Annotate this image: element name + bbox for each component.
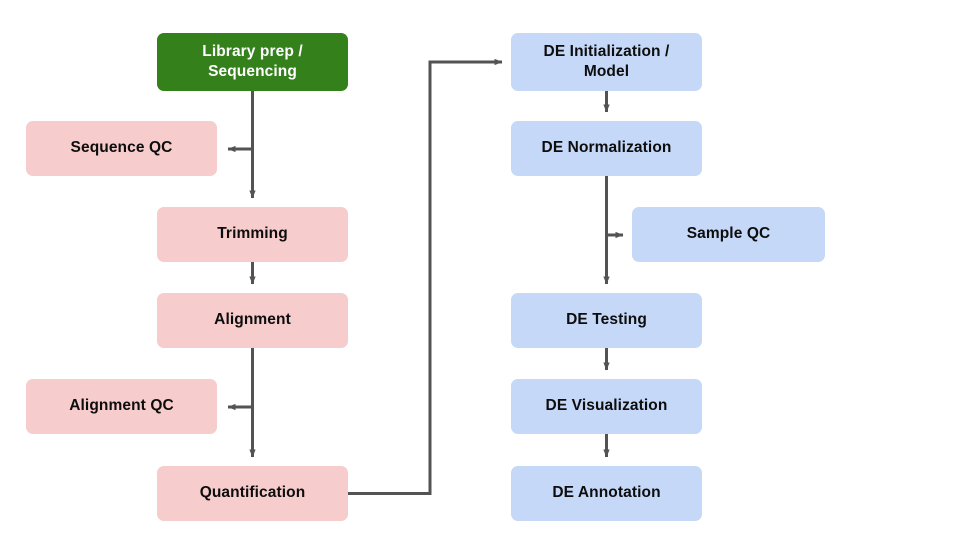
edge-layer xyxy=(0,0,960,540)
node-library-prep-sequencing[interactable]: Library prep / Sequencing xyxy=(157,33,348,91)
node-quantification[interactable]: Quantification xyxy=(157,466,348,521)
node-de-testing[interactable]: DE Testing xyxy=(511,293,702,348)
flowchart-canvas: Library prep / Sequencing Sequence QC Tr… xyxy=(0,0,960,540)
node-alignment[interactable]: Alignment xyxy=(157,293,348,348)
node-de-visualization[interactable]: DE Visualization xyxy=(511,379,702,434)
node-sequence-qc[interactable]: Sequence QC xyxy=(26,121,217,176)
node-de-normalization[interactable]: DE Normalization xyxy=(511,121,702,176)
node-de-annotation[interactable]: DE Annotation xyxy=(511,466,702,521)
node-sample-qc[interactable]: Sample QC xyxy=(632,207,825,262)
node-de-initialization-model[interactable]: DE Initialization / Model xyxy=(511,33,702,91)
node-trimming[interactable]: Trimming xyxy=(157,207,348,262)
node-alignment-qc[interactable]: Alignment QC xyxy=(26,379,217,434)
edge-quantification-to-de-initialization xyxy=(348,62,502,494)
